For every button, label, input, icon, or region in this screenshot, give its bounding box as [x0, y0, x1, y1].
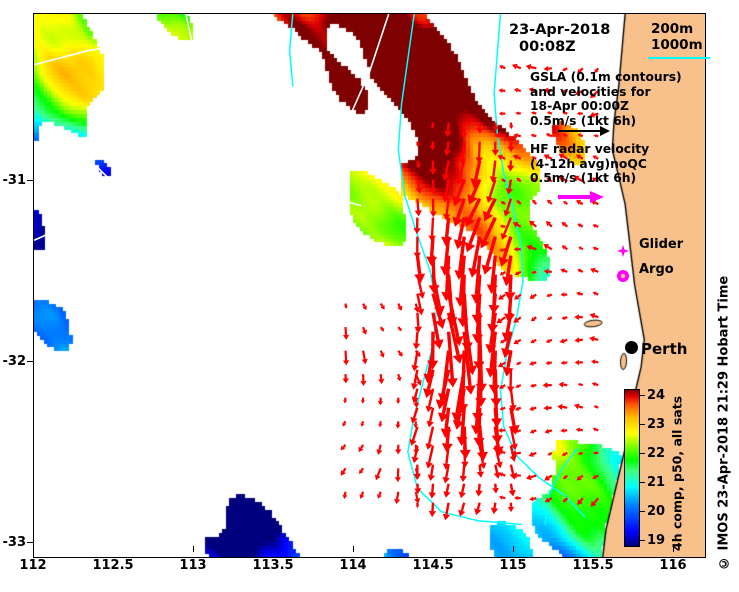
map-timestamp: 23-Apr-201800:08Z	[509, 22, 610, 56]
y-tick-label: -33	[0, 535, 26, 550]
colorbar-tick-label: 24	[647, 388, 665, 403]
x-tick-label: 113.5	[243, 558, 303, 573]
x-tick-label: 114.5	[403, 558, 463, 573]
colorbar-tick	[640, 424, 645, 425]
colorbar-tick	[640, 453, 645, 454]
colorbar-tick-label: 20	[647, 504, 665, 519]
legend-label-glider: Glider	[639, 237, 683, 252]
colorbar-tick-label: 22	[647, 446, 665, 461]
hf-velocity-scale-arrow	[556, 190, 606, 204]
perth-city-label: Perth	[641, 340, 687, 358]
glider-icon	[615, 243, 631, 259]
hf-radar-annotation: HF radar velocity (4-12h avg)noQC 0.5m/s…	[530, 142, 649, 186]
x-tick	[193, 546, 194, 552]
argo-icon	[615, 268, 631, 284]
x-tick-label: 115.5	[563, 558, 623, 573]
colorbar-tick-label: 23	[647, 417, 665, 432]
isobath-1000m-swatch	[648, 57, 710, 59]
sst-colorbar	[624, 389, 640, 547]
colorbar-tick	[640, 540, 645, 541]
legend-item-argo[interactable]: Argo	[615, 268, 631, 288]
y-tick-label: -31	[0, 173, 26, 188]
x-tick-label: 113	[163, 558, 223, 573]
bathymetry-scale-legend: 200m1000m	[651, 22, 703, 54]
legend-label-argo: Argo	[639, 262, 674, 277]
x-tick-label: 114	[323, 558, 383, 573]
oceancurrent-map-figure: 112 112.5 113 113.5 114 114.5 115 115.5 …	[0, 0, 739, 592]
colorbar-tick-label: 19	[647, 533, 665, 548]
perth-city-marker[interactable]	[625, 341, 638, 354]
x-tick-label: 112	[3, 558, 63, 573]
x-tick-label: 112.5	[83, 558, 143, 573]
colorbar-title: 4h comp, p50, all sats	[668, 398, 686, 548]
x-tick-label: 115	[483, 558, 543, 573]
x-tick	[353, 546, 354, 552]
colorbar-tick	[640, 511, 645, 512]
gsla-velocity-scale-arrow	[556, 124, 612, 138]
gsla-annotation: GSLA (0.1m contours) and velocities for …	[530, 70, 682, 128]
map-time: 00:08Z	[519, 39, 576, 56]
colorbar-tick	[640, 482, 645, 483]
isobath-200m-label: 200m	[651, 21, 693, 37]
y-tick-label: -32	[0, 354, 26, 369]
x-tick-label: 116	[643, 558, 703, 573]
map-date: 23-Apr-2018	[509, 22, 610, 38]
y-tick	[27, 180, 33, 181]
colorbar-tick-label: 21	[647, 475, 665, 490]
copyright-notice: © IMOS 23-Apr-2018 21:29 Hobart Time	[714, 250, 734, 570]
x-tick	[513, 546, 514, 552]
isobath-1000m-label: 1000m	[651, 37, 703, 53]
colorbar-tick	[640, 395, 645, 396]
y-tick	[27, 361, 33, 362]
x-tick	[33, 546, 34, 552]
y-tick	[27, 542, 33, 543]
legend-item-glider[interactable]: Glider	[615, 243, 631, 263]
